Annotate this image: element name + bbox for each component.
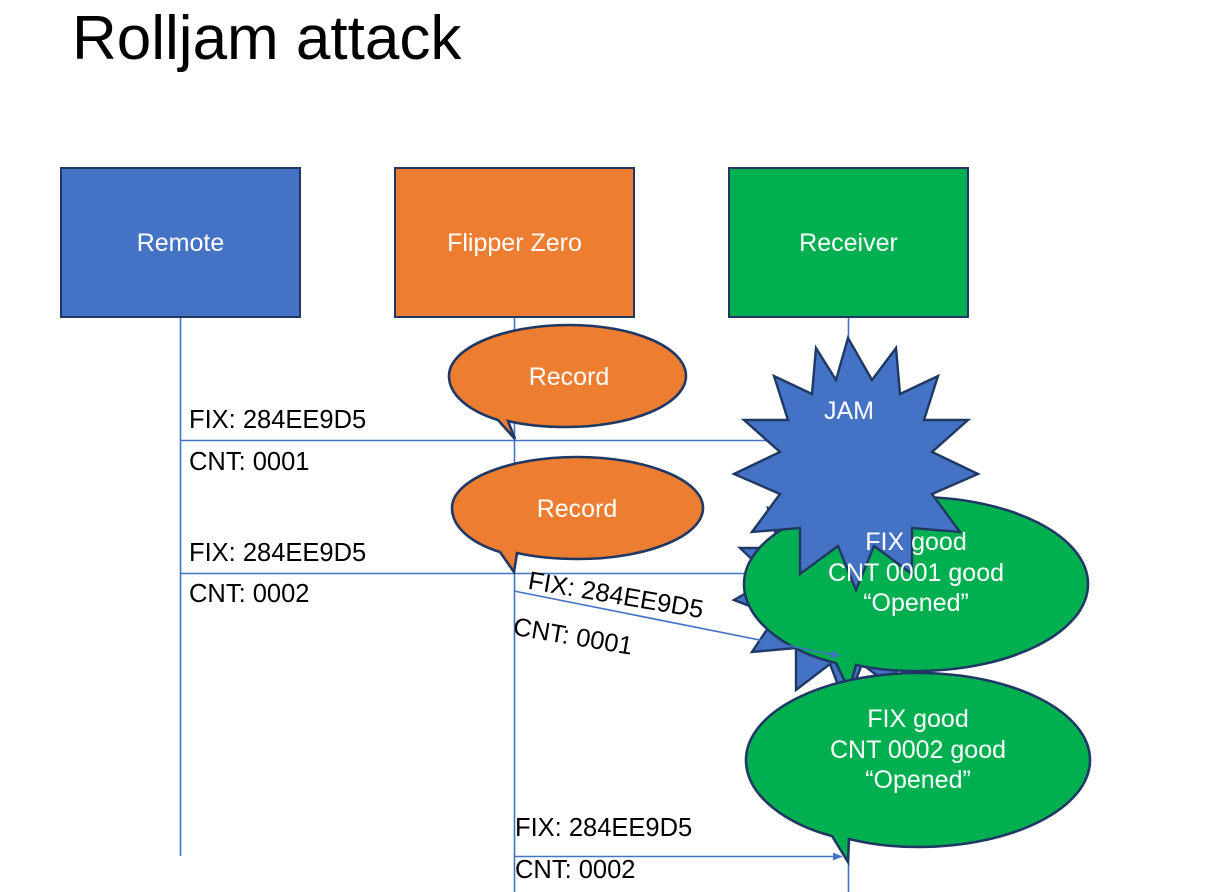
- result-2-shape: [746, 673, 1090, 862]
- message-label-remote-cnt-1: CNT: 0001: [189, 447, 309, 477]
- message-label-remote-fix-2: FIX: 284EE9D5: [189, 538, 366, 568]
- actor-label-receiver: Receiver: [799, 228, 898, 258]
- actor-label-remote: Remote: [137, 228, 225, 258]
- record-2-shape: [452, 457, 703, 572]
- message-label-replay-cnt-2: CNT: 0002: [515, 855, 635, 885]
- actor-label-flipper-zero: Flipper Zero: [447, 228, 582, 258]
- record-1-shape: [449, 325, 686, 439]
- message-label-remote-cnt-2: CNT: 0002: [189, 579, 309, 609]
- message-label-remote-fix-1: FIX: 284EE9D5: [189, 405, 366, 435]
- diagram-vector-layer: [0, 0, 1231, 892]
- slide-canvas: Rolljam attack Remote Flipper Zero Recei…: [0, 0, 1231, 892]
- message-label-replay-fix-2: FIX: 284EE9D5: [515, 813, 692, 843]
- actor-box-receiver[interactable]: Receiver: [728, 167, 969, 318]
- actor-box-flipper-zero[interactable]: Flipper Zero: [394, 167, 635, 318]
- actor-box-remote[interactable]: Remote: [60, 167, 301, 318]
- slide-title: Rolljam attack: [72, 4, 461, 73]
